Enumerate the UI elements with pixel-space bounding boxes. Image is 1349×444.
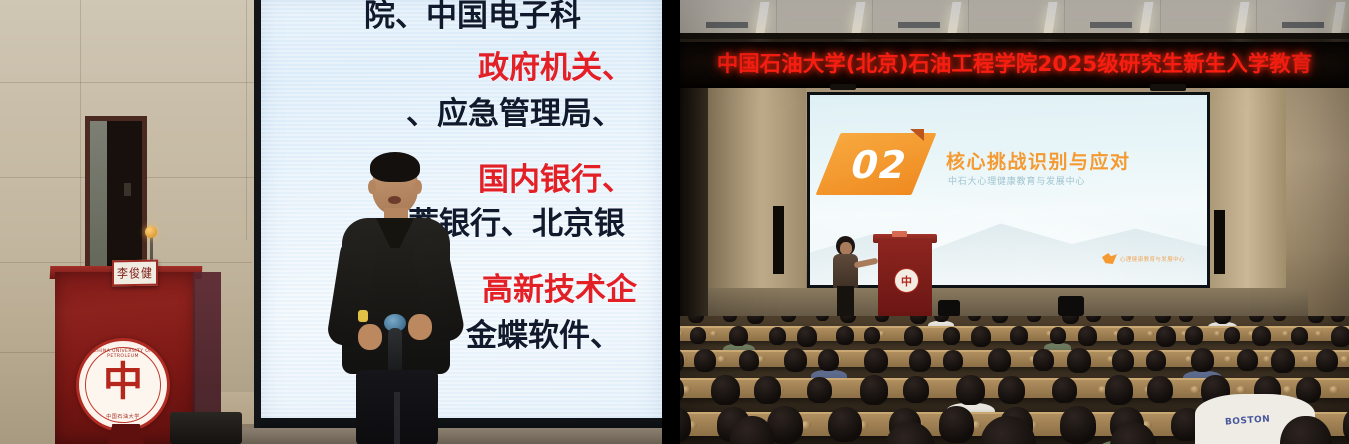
presenter-hair — [370, 152, 420, 182]
audience-head — [998, 376, 1025, 404]
audience-head — [688, 316, 704, 323]
seat-knob — [1329, 386, 1339, 393]
left-photo: 院、中国电子科 政府机关、 、应急管理局、 国内银行、 蓄银行、北京银 高新技术… — [0, 0, 662, 444]
university-seal: CHINA UNIVERSITY OF PETROLEUM 中 中国石油大学 — [76, 338, 170, 432]
audience-seating: BOSTON — [680, 316, 1349, 444]
slide-section-number: 02 — [837, 143, 922, 187]
audience-head — [1112, 349, 1134, 372]
audience-head — [988, 348, 1011, 372]
audience-head — [1146, 350, 1166, 371]
audience-head — [769, 327, 786, 345]
ceiling-vent — [898, 22, 940, 28]
audience-head — [864, 348, 888, 373]
led-banner: 中国石油大学(北京)石油工程学院2025级研究生新生入学教育 — [680, 42, 1349, 88]
wall-slot — [1214, 210, 1225, 274]
audience-head — [836, 326, 854, 345]
slide-logo-text: 心理健康教育与发展中心 — [1120, 255, 1185, 263]
audience-head — [1078, 326, 1097, 346]
audience-head — [1050, 327, 1066, 344]
projection-screen-left: 院、中国电子科 政府机关、 、应急管理局、 国内银行、 蓄银行、北京银 高新技术… — [260, 0, 662, 432]
audience-head — [818, 349, 839, 371]
slide-subtitle: 中石大心理健康教育与发展中心 — [948, 174, 1085, 187]
audience-head — [781, 316, 796, 322]
audience-head — [690, 327, 706, 344]
wall-shadow-left — [680, 88, 708, 318]
audience-head — [1105, 375, 1133, 404]
door-plate — [124, 183, 131, 196]
slide-line: 院、中国电子科 — [364, 0, 581, 35]
presenter-legs — [837, 286, 854, 318]
stage-monitor-speaker — [1058, 296, 1084, 316]
stage-monitor-speaker — [938, 300, 960, 317]
seat-knob — [1236, 386, 1246, 393]
presentation-clicker — [358, 310, 368, 322]
audience-head — [1308, 316, 1324, 323]
heart-logo-icon — [1102, 253, 1117, 264]
audience-head — [1331, 326, 1349, 347]
ceiling-vent — [706, 22, 748, 28]
audience-head — [909, 349, 931, 372]
audience-head — [1121, 316, 1134, 321]
audience-head — [739, 350, 759, 371]
audience-head — [910, 316, 927, 324]
audience-head — [747, 316, 764, 324]
audience-head — [939, 406, 974, 443]
podium-side — [193, 272, 221, 434]
presenter-left — [330, 142, 460, 444]
audience-head — [1052, 377, 1077, 403]
audience-head — [754, 376, 781, 404]
projector-mount — [1150, 84, 1186, 91]
composite-image: 院、中国电子科 政府机关、 、应急管理局、 国内银行、 蓄银行、北京银 高新技术… — [0, 0, 1349, 444]
seat-knob — [1283, 386, 1293, 393]
audience-head — [943, 350, 963, 371]
presenter-right — [828, 236, 862, 318]
presenter-torso — [833, 254, 858, 288]
podium-nameplate: 李俊健 — [112, 260, 158, 287]
seal-emblem-mark: 中 — [103, 362, 143, 402]
audience-head — [840, 316, 856, 323]
audience-head — [1185, 326, 1203, 345]
audience-head — [864, 327, 880, 344]
audience-head — [904, 326, 923, 346]
audience-head — [784, 348, 807, 372]
audience-head — [797, 326, 817, 347]
audience-head — [903, 376, 929, 403]
audience-head — [1291, 327, 1308, 345]
audience-head — [711, 375, 740, 405]
slide-title: 核心挑战识别与应对 — [946, 147, 1131, 174]
slide-line: 政府机关、 — [478, 42, 633, 87]
audience-head — [1086, 316, 1101, 322]
audience-head — [1271, 348, 1295, 373]
presenter-mouth — [388, 196, 401, 204]
seat-knob — [1190, 386, 1200, 393]
slide-text-block: 院、中国电子科 政府机关、 、应急管理局、 国内银行、 蓄银行、北京银 高新技术… — [260, 0, 662, 432]
wall-seam — [246, 0, 247, 240]
presenter-ear — [368, 180, 376, 194]
audience-head — [1155, 316, 1171, 323]
slide-line: 高新技术企 — [482, 264, 637, 309]
ceiling — [680, 0, 1349, 36]
presenter-hand — [358, 324, 382, 350]
audience-head — [1273, 316, 1286, 321]
audience-head — [1224, 327, 1240, 344]
microphone-lamp — [145, 226, 157, 238]
ceiling-vent — [1090, 22, 1132, 28]
audience-head — [828, 407, 862, 443]
audience-head — [971, 326, 991, 347]
audience-head — [723, 316, 737, 322]
audience-head — [1316, 349, 1338, 372]
seal-chinese-text: 中国石油大学 — [79, 413, 167, 420]
banner-text: 中国石油大学(北京)石油工程学院2025级研究生新生入学教育 — [717, 54, 1313, 76]
presenter-ear — [414, 180, 422, 194]
audience-head — [816, 316, 829, 321]
audience-head — [1060, 406, 1096, 444]
audience-head — [1179, 316, 1193, 322]
audience-head — [1117, 327, 1134, 345]
slide-footer-logo: 心理健康教育与发展中心 — [1102, 253, 1185, 264]
audience-head — [943, 327, 960, 345]
audience-head — [1010, 326, 1028, 345]
podium-seal-right: 中 — [894, 268, 919, 293]
audience-head — [875, 316, 889, 322]
audience-head — [694, 349, 716, 372]
podium-base — [108, 424, 144, 444]
audience-head — [860, 375, 888, 404]
ceiling-vent — [1282, 22, 1324, 28]
slide-line: 国内银行、 — [478, 154, 633, 199]
audience-head — [1147, 376, 1173, 403]
audience-head — [992, 316, 1008, 323]
audience-head — [968, 316, 981, 321]
slide-line: 、应急管理局、 — [406, 88, 623, 133]
audience-head — [956, 375, 985, 405]
presenter-leg-gap — [394, 392, 400, 444]
audience-head — [1067, 348, 1091, 373]
right-photo: 中国石油大学(北京)石油工程学院2025级研究生新生入学教育 02 核心挑战识别… — [680, 0, 1349, 444]
nameplate-text: 李俊健 — [117, 263, 153, 282]
presenter-hand — [408, 314, 432, 340]
audience-head — [1249, 316, 1264, 322]
wall-slot — [773, 206, 784, 274]
audience-head — [1252, 326, 1271, 346]
audience-head — [1033, 349, 1054, 371]
audience-head — [1237, 349, 1258, 371]
podium-papers — [892, 231, 907, 237]
projector-mount — [830, 84, 856, 90]
seat-knob — [717, 356, 725, 362]
audience-head — [807, 377, 832, 403]
audience-head — [729, 326, 748, 346]
audience-head — [1027, 316, 1041, 322]
stage-monitor-speaker — [170, 412, 242, 444]
audience-head — [1191, 348, 1214, 372]
audience-head — [1062, 316, 1079, 324]
wall-pillar — [708, 88, 806, 318]
audience-head — [1156, 326, 1176, 347]
audience-head — [1331, 316, 1345, 322]
photo-divider — [662, 0, 680, 444]
ceiling-shadow-band — [680, 33, 1349, 39]
wall-pillar — [1200, 88, 1286, 306]
